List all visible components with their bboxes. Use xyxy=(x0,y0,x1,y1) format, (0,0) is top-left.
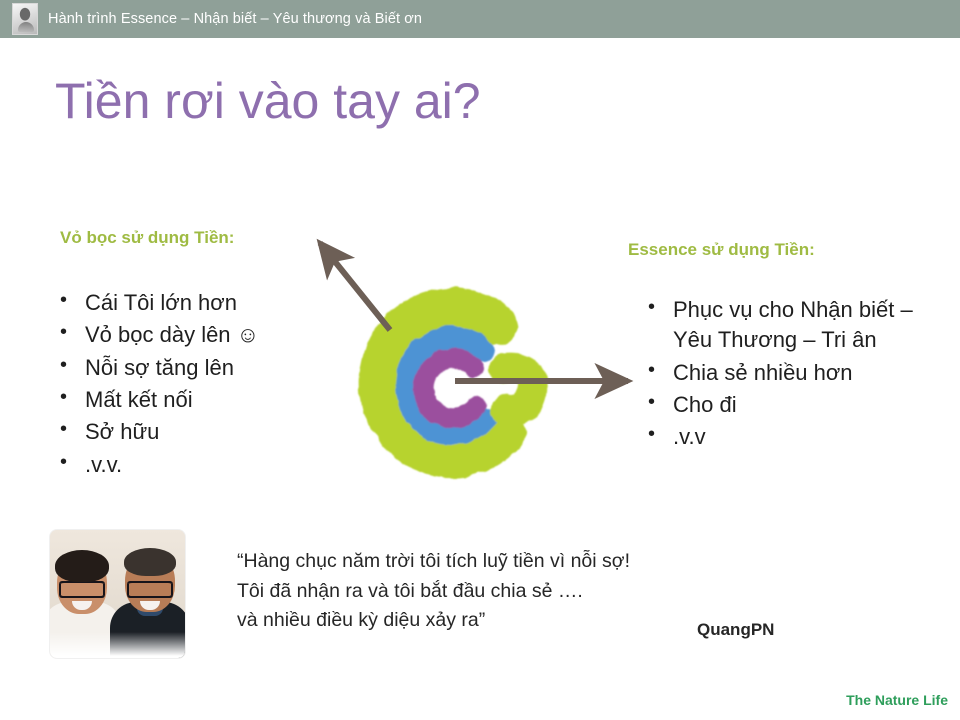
left-column-heading: Vỏ bọc sử dụng Tiền: xyxy=(60,228,234,248)
right-bullet-list: Phục vụ cho Nhận biết – Yêu Thương – Tri… xyxy=(640,295,920,455)
essence-spiral-graphic xyxy=(318,272,558,502)
list-item: Chia sẻ nhiều hơn xyxy=(640,358,920,388)
glasses-icon xyxy=(59,581,105,598)
page-title: Tiền rơi vào tay ai? xyxy=(55,74,481,128)
photo-person-right-hair xyxy=(124,548,176,576)
smile-shape xyxy=(72,601,92,610)
glasses-icon xyxy=(127,581,173,598)
quote-line: Tôi đã nhận ra và tôi bắt đầu chia sẻ …. xyxy=(237,577,630,607)
list-item: Cho đi xyxy=(640,390,920,420)
list-item: Vỏ bọc dày lên ☺ xyxy=(52,320,332,350)
quote-line: “Hàng chục năm trời tôi tích luỹ tiền vì… xyxy=(237,547,630,577)
brand-footer: The Nature Life xyxy=(846,692,948,708)
right-column-heading: Essence sử dụng Tiền: xyxy=(628,240,815,260)
spiral-svg xyxy=(318,272,558,502)
slide-header-band: Hành trình Essence – Nhận biết – Yêu thư… xyxy=(0,0,960,38)
list-item: Mất kết nối xyxy=(52,385,332,415)
list-item: Sở hữu xyxy=(52,417,332,447)
photo-bottom-fade xyxy=(50,632,185,658)
list-item: Nỗi sợ tăng lên xyxy=(52,353,332,383)
smile-shape xyxy=(140,601,160,610)
quote-block: “Hàng chục năm trời tôi tích luỹ tiền vì… xyxy=(237,547,630,636)
two-men-photo xyxy=(50,530,185,658)
list-item: Phục vụ cho Nhận biết – Yêu Thương – Tri… xyxy=(640,295,920,356)
presenter-thumbnail-icon xyxy=(12,3,38,35)
slide-canvas: Hành trình Essence – Nhận biết – Yêu thư… xyxy=(0,0,960,720)
photo-person-left-hair xyxy=(55,550,109,582)
quote-author: QuangPN xyxy=(697,620,774,640)
list-item: Cái Tôi lớn hơn xyxy=(52,288,332,318)
left-bullet-list: Cái Tôi lớn hơn Vỏ bọc dày lên ☺ Nỗi sợ … xyxy=(52,288,332,482)
list-item: .v.v xyxy=(640,422,920,452)
header-title: Hành trình Essence – Nhận biết – Yêu thư… xyxy=(48,11,422,27)
quote-line: và nhiều điều kỳ diệu xảy ra” xyxy=(237,606,630,636)
list-item: .v.v. xyxy=(52,450,332,480)
